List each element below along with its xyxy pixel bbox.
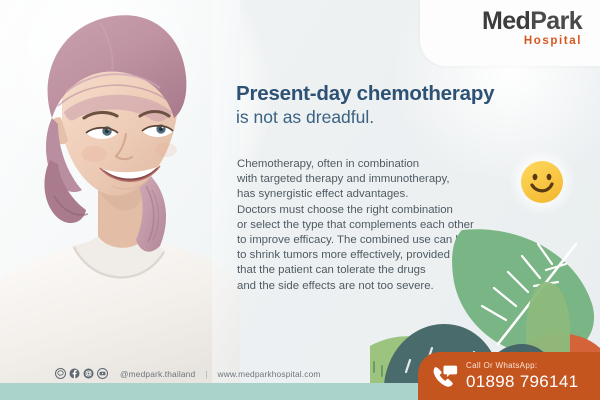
- youtube-icon[interactable]: [97, 368, 108, 379]
- bottom-mint-strip: [0, 383, 430, 400]
- instagram-icon[interactable]: [83, 368, 94, 379]
- logo-secondary-text: Hospital: [482, 36, 582, 48]
- social-handle[interactable]: @medpark.thailand: [120, 369, 195, 379]
- call-text-group: Call Or WhatsApp: 01898 796141: [466, 362, 578, 390]
- body-line: Doctors must choose the right combinatio…: [237, 203, 527, 218]
- call-label: Call Or WhatsApp:: [466, 362, 578, 370]
- logo-panel: MedPark Hospital: [420, 0, 600, 66]
- headline-line-1: Present-day chemotherapy: [236, 82, 536, 106]
- brand-logo[interactable]: MedPark Hospital: [482, 9, 582, 48]
- footer-separator: |: [205, 369, 207, 379]
- body-line: with targeted therapy and immunotherapy,: [237, 172, 527, 187]
- patient-photo: [0, 0, 240, 385]
- footer-contact-row: @medpark.thailand | www.medparkhospital.…: [55, 368, 321, 379]
- social-icon-group: [55, 368, 108, 379]
- call-phone-number[interactable]: 01898 796141: [466, 373, 578, 390]
- logo-primary-text: MedPark: [482, 9, 582, 34]
- logo-park-part: Park: [530, 7, 582, 35]
- call-to-action-banner[interactable]: Call Or WhatsApp: 01898 796141: [418, 352, 600, 400]
- advertisement-card: MedPark Hospital Present-day chemotherap…: [0, 0, 600, 400]
- line-icon[interactable]: [55, 368, 66, 379]
- phone-chat-icon: [430, 363, 458, 391]
- facebook-icon[interactable]: [69, 368, 80, 379]
- headline-block: Present-day chemotherapy is not as dread…: [236, 82, 536, 129]
- website-url[interactable]: www.medparkhospital.com: [218, 369, 321, 379]
- body-line: Chemotherapy, often in combination: [237, 157, 527, 172]
- smiley-face-icon: [518, 158, 566, 206]
- logo-med-part: Med: [482, 7, 530, 35]
- headline-line-2: is not as dreadful.: [236, 107, 536, 129]
- body-line: has synergistic effect advantages.: [237, 187, 527, 202]
